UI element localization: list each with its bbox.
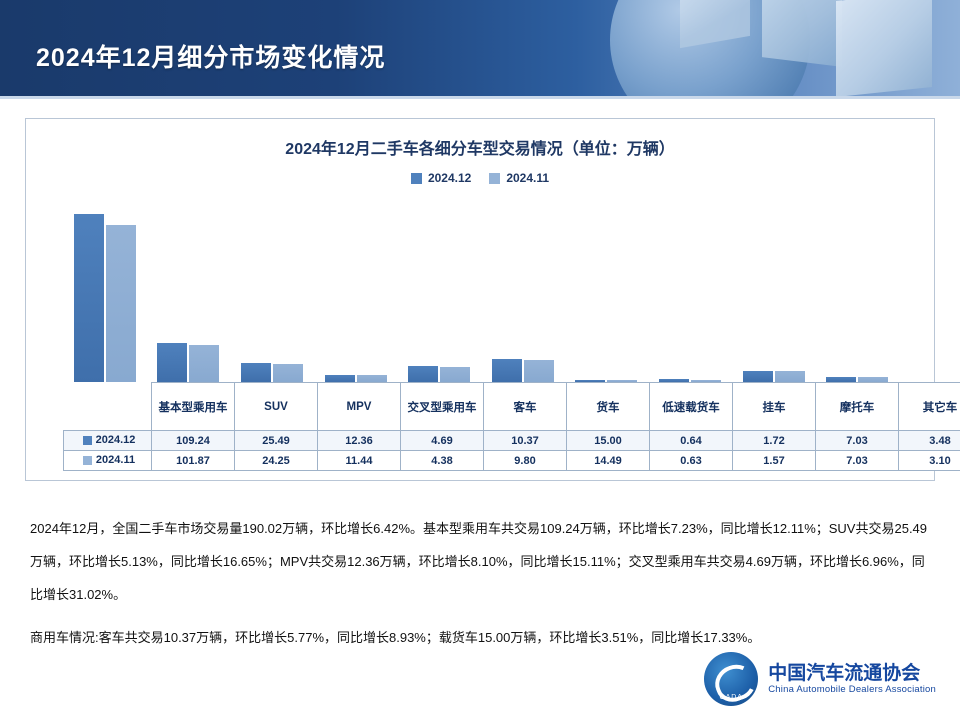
page-header: 2024年12月细分市场变化情况 [0,0,960,96]
table-series-swatch-icon [83,456,92,465]
bar-series-2 [440,367,470,382]
table-category-header: 客车 [484,383,567,431]
legend-item-series-1: 2024.12 [411,171,471,185]
cube-decoration-2 [762,0,842,67]
analysis-text: 2024年12月，全国二手车市场交易量190.02万辆，环比增长6.42%。基本… [30,512,930,660]
bar-series-1 [241,363,271,382]
bar-group [63,197,147,382]
bar-series-2 [775,371,805,382]
table-category-header: 挂车 [733,383,816,431]
bar-series-1 [492,359,522,382]
bar-group [147,197,231,382]
table-cell-value: 7.03 [816,451,899,471]
legend-label-series-1: 2024.12 [428,171,471,185]
chart-title: 2024年12月二手车各细分车型交易情况（单位：万辆） [26,135,934,159]
table-cell-value: 0.63 [650,451,733,471]
analysis-paragraph-2: 商用车情况:客车共交易10.37万辆，环比增长5.77%，同比增长8.93%；载… [30,621,930,654]
table-cell-value: 1.72 [733,431,816,451]
table-cell-value: 12.36 [318,431,401,451]
bar-group [732,197,816,382]
chart-legend: 2024.12 2024.11 [26,171,934,185]
table-category-header: MPV [318,383,401,431]
bar-group [565,197,649,382]
table-cell-value: 15.00 [567,431,650,451]
table-category-header: 基本型乘用车 [152,383,235,431]
bar-series-2 [106,225,136,382]
table-category-header: 交叉型乘用车 [401,383,484,431]
legend-item-series-2: 2024.11 [489,171,549,185]
table-series-label: 2024.12 [64,431,152,451]
table-category-header: 摩托车 [816,383,899,431]
legend-swatch-series-1 [411,173,422,184]
table-cell-value: 4.38 [401,451,484,471]
chart-card: 2024年12月二手车各细分车型交易情况（单位：万辆） 2024.12 2024… [25,118,935,481]
association-name-cn: 中国汽车流通协会 [768,663,936,685]
table-category-header: 货车 [567,383,650,431]
bar-series-1 [74,214,104,382]
bar-group [648,197,732,382]
analysis-paragraph-1: 2024年12月，全国二手车市场交易量190.02万辆，环比增长6.42%。基本… [30,512,930,611]
table-series-swatch-icon [83,436,92,445]
association-logo: 中国汽车流通协会 China Automobile Dealers Associ… [704,652,936,706]
bar-series-1 [743,371,773,382]
table-cell-value: 14.49 [567,451,650,471]
table-corner-cell [64,383,152,431]
cada-emblem-icon [704,652,758,706]
page-title: 2024年12月细分市场变化情况 [36,38,385,74]
bar-group [815,197,899,382]
bar-series-2 [524,360,554,382]
bar-series-2 [189,345,219,382]
table-cell-value: 7.03 [816,431,899,451]
table-category-header: SUV [235,383,318,431]
table-category-header: 其它车 [899,383,960,431]
table-cell-value: 9.80 [484,451,567,471]
table-row: 2024.11101.8724.2511.444.389.8014.490.63… [64,451,960,471]
table-cell-value: 10.37 [484,431,567,451]
legend-label-series-2: 2024.11 [506,171,549,185]
bar-series-2 [357,375,387,382]
table-cell-value: 3.48 [899,431,960,451]
table-row: 2024.12109.2425.4912.364.6910.3715.000.6… [64,431,960,451]
bar-group [314,197,398,382]
table-category-row: 基本型乘用车SUVMPV交叉型乘用车客车货车低速载货车挂车摩托车其它车 [64,383,960,431]
table-series-label: 2024.11 [64,451,152,471]
bar-chart-plot-area [63,197,899,382]
bar-series-2 [273,364,303,382]
bar-series-1 [408,366,438,382]
table-cell-value: 25.49 [235,431,318,451]
bar-group [397,197,481,382]
chart-data-table: 基本型乘用车SUVMPV交叉型乘用车客车货车低速载货车挂车摩托车其它车2024.… [63,382,960,471]
table-cell-value: 101.87 [152,451,235,471]
table-cell-value: 109.24 [152,431,235,451]
table-category-header: 低速载货车 [650,383,733,431]
bar-series-1 [325,375,355,382]
association-name-en: China Automobile Dealers Association [768,684,936,695]
bar-series-1 [157,343,187,382]
bar-group [481,197,565,382]
table-cell-value: 0.64 [650,431,733,451]
legend-swatch-series-2 [489,173,500,184]
table-cell-value: 1.57 [733,451,816,471]
table-cell-value: 24.25 [235,451,318,471]
table-cell-value: 11.44 [318,451,401,471]
table-cell-value: 3.10 [899,451,960,471]
header-divider [0,96,960,99]
bar-group [230,197,314,382]
table-cell-value: 4.69 [401,431,484,451]
cube-decoration-1 [836,0,932,96]
